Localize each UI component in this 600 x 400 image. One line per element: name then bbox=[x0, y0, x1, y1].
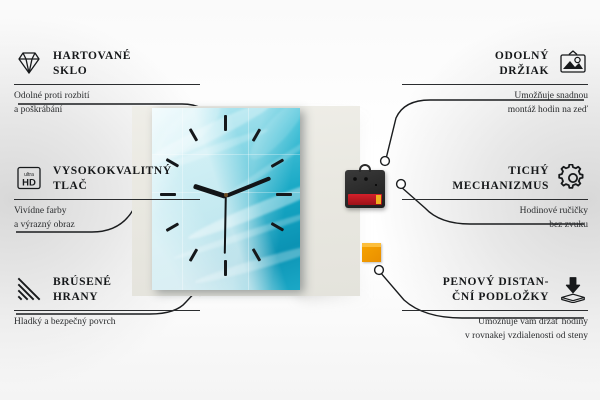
mechanism-hook bbox=[359, 164, 371, 172]
feature-title-line: TLAČ bbox=[53, 179, 172, 194]
connector-node-mount bbox=[381, 157, 390, 166]
feature-beveled-edges: BRÚSENÉ HRANY Hladký a bezpečný povrch bbox=[14, 274, 200, 330]
feature-desc-line: Umožňuje snadnou bbox=[402, 90, 588, 103]
ultra-hd-badge-icon: ultra HD bbox=[14, 163, 44, 193]
feature-title: TICHÝ MECHANIZMUS bbox=[452, 163, 549, 194]
svg-text:HD: HD bbox=[22, 178, 36, 189]
divider bbox=[14, 199, 200, 200]
feature-title-line: MECHANIZMUS bbox=[452, 179, 549, 194]
feature-description: Hodinové ručičky bez zvuku bbox=[402, 205, 588, 232]
center-pin bbox=[224, 193, 228, 197]
feature-desc-line: montáž hodin na zeď bbox=[402, 104, 588, 117]
feature-header: BRÚSENÉ HRANY bbox=[14, 274, 200, 305]
feature-description: Hladký a bezpečný povrch bbox=[14, 316, 200, 329]
divider bbox=[402, 84, 588, 85]
feature-header: TICHÝ MECHANIZMUS bbox=[402, 163, 588, 194]
picture-hanger-icon bbox=[558, 48, 588, 78]
connector-node-foam bbox=[375, 266, 384, 275]
feature-title: ODOLNÝ DRŽIAK bbox=[495, 48, 549, 79]
foam-pad-top bbox=[362, 243, 381, 247]
tick-12 bbox=[224, 115, 227, 131]
gear-icon bbox=[558, 163, 588, 193]
feature-header: ODOLNÝ DRŽIAK bbox=[402, 48, 588, 79]
feature-title-line: ČNÍ PODLOŽKY bbox=[443, 290, 549, 305]
press-down-pad-icon bbox=[558, 274, 588, 304]
feature-desc-line: a výrazný obraz bbox=[14, 219, 200, 232]
battery bbox=[348, 194, 382, 205]
feature-title-line: VYSOKOKVALITNÝ bbox=[53, 164, 172, 179]
feature-desc-line: Umožňuje vám držať hodiny bbox=[402, 316, 588, 329]
feature-desc-line: Hladký a bezpečný povrch bbox=[14, 316, 200, 329]
feature-title: VYSOKOKVALITNÝ TLAČ bbox=[53, 163, 172, 194]
feature-title: PENOVÝ DISTAN- ČNÍ PODLOŽKY bbox=[443, 274, 549, 305]
feature-header: HARTOVANÉ SKLO bbox=[14, 48, 200, 79]
divider bbox=[14, 84, 200, 85]
battery-terminal bbox=[376, 195, 381, 204]
feature-desc-line: Odolné proti rozbití bbox=[14, 90, 200, 103]
feature-title-line: ODOLNÝ bbox=[495, 49, 549, 64]
feature-durable-hanger: ODOLNÝ DRŽIAK Umožňuje snadnou montáž ho… bbox=[402, 48, 588, 117]
feature-title: HARTOVANÉ SKLO bbox=[53, 48, 131, 79]
feature-desc-line: Vivídne farby bbox=[14, 205, 200, 218]
feature-desc-line: Hodinové ručičky bbox=[402, 205, 588, 218]
tick-3 bbox=[276, 193, 292, 196]
feature-description: Umožňuje snadnou montáž hodin na zeď bbox=[402, 90, 588, 117]
feature-title-line: TICHÝ bbox=[452, 164, 549, 179]
feature-title-line: DRŽIAK bbox=[495, 64, 549, 79]
feature-header: PENOVÝ DISTAN- ČNÍ PODLOŽKY bbox=[402, 274, 588, 305]
feature-description: Vivídne farby a výrazný obraz bbox=[14, 205, 200, 232]
diamond-icon bbox=[14, 48, 44, 78]
tick-6 bbox=[224, 260, 227, 276]
divider bbox=[14, 310, 200, 311]
feature-desc-line: bez zvuku bbox=[402, 219, 588, 232]
feature-title-line: BRÚSENÉ bbox=[53, 275, 112, 290]
infographic-stage: HARTOVANÉ SKLO Odolné proti rozbití a po… bbox=[0, 0, 600, 400]
foam-spacer-pad bbox=[362, 243, 381, 262]
feature-silent-mechanism: TICHÝ MECHANIZMUS Hodinové ručičky bez z… bbox=[402, 163, 588, 232]
clock-mechanism bbox=[345, 170, 385, 208]
feature-title-line: PENOVÝ DISTAN- bbox=[443, 275, 549, 290]
feature-foam-spacers: PENOVÝ DISTAN- ČNÍ PODLOŽKY Umožňuje vám… bbox=[402, 274, 588, 343]
divider bbox=[402, 199, 588, 200]
feature-header: ultra HD VYSOKOKVALITNÝ TLAČ bbox=[14, 163, 200, 194]
feature-description: Umožňuje vám držať hodiny v rovnakej vzd… bbox=[402, 316, 588, 343]
feature-title-line: SKLO bbox=[53, 64, 131, 79]
feature-title-line: HRANY bbox=[53, 290, 112, 305]
feature-desc-line: v rovnakej vzdialenosti od steny bbox=[402, 330, 588, 343]
feature-title: BRÚSENÉ HRANY bbox=[53, 274, 112, 305]
beveled-edges-icon bbox=[14, 274, 44, 304]
divider bbox=[402, 310, 588, 311]
feature-title-line: HARTOVANÉ bbox=[53, 49, 131, 64]
feature-desc-line: a poškrábání bbox=[14, 104, 200, 117]
feature-tempered-glass: HARTOVANÉ SKLO Odolné proti rozbití a po… bbox=[14, 48, 200, 117]
mechanism-detail bbox=[349, 175, 379, 189]
feature-high-quality-print: ultra HD VYSOKOKVALITNÝ TLAČ Vivídne far… bbox=[14, 163, 200, 232]
feature-description: Odolné proti rozbití a poškrábání bbox=[14, 90, 200, 117]
